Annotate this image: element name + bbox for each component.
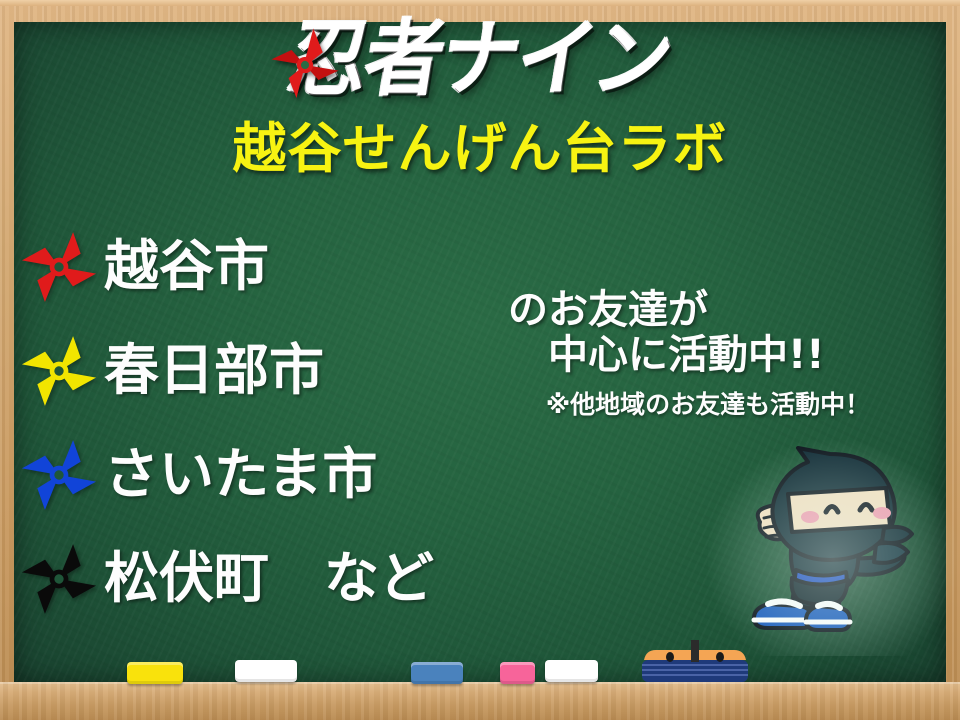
lab-subtitle: 越谷せんげん台ラボ (0, 122, 960, 176)
activity-note: ※他地域のお友達も活動中！ (508, 392, 908, 417)
city-list: 越谷市 春日部市 (14, 214, 484, 630)
activity-line-1: のお友達が (508, 288, 908, 333)
city-label: 春日部市 (104, 343, 324, 398)
chalk-pink (500, 662, 535, 684)
list-item: 松伏町 など (14, 526, 484, 630)
chalk-ledge (0, 682, 960, 720)
ninja-mascot-illustration (726, 446, 938, 652)
list-item: 春日部市 (14, 318, 484, 422)
logo-title: 忍者ナイン (283, 19, 676, 102)
city-label: 松伏町 など (104, 551, 434, 606)
shuriken-icon (20, 332, 98, 410)
shuriken-icon (20, 436, 98, 514)
chalk-yellow (127, 662, 183, 684)
logo-block: 忍者ナイン (0, 6, 960, 114)
list-item: 越谷市 (14, 214, 484, 318)
shuriken-icon (20, 228, 98, 306)
chalk-white-1 (235, 660, 297, 682)
ninja-mascot (726, 446, 938, 652)
poster-canvas: 忍者ナイン 越谷せんげん台ラボ (0, 0, 960, 720)
chalk-white-2 (545, 660, 598, 682)
city-label: 越谷市 (104, 239, 269, 294)
list-item: さいたま市 (14, 422, 484, 526)
shuriken-icon (20, 540, 98, 618)
city-label: さいたま市 (104, 447, 377, 502)
chalk-basket-icon (640, 638, 750, 684)
activity-text-block: のお友達が 中心に活動中!! ※他地域のお友達も活動中！ (508, 288, 908, 417)
activity-line-2: 中心に活動中!! (508, 333, 908, 378)
chalk-blue (411, 662, 463, 684)
